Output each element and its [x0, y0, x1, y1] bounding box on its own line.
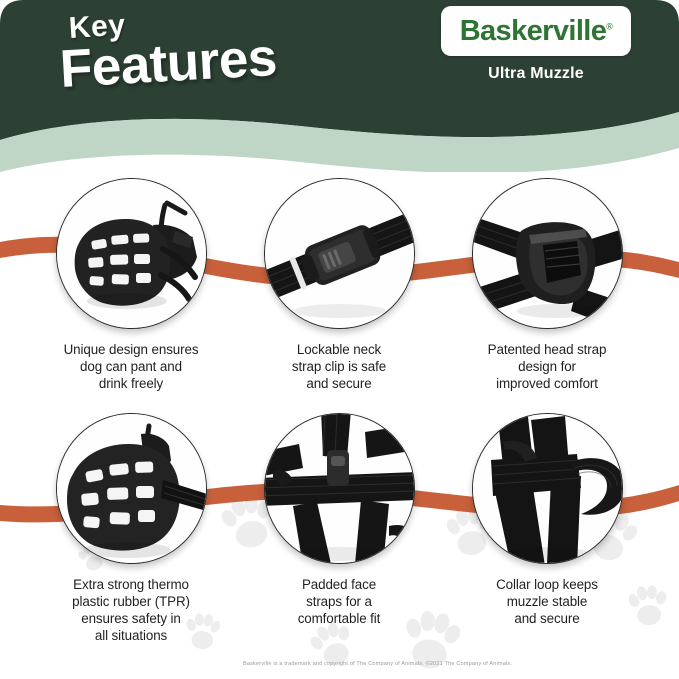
- feature-caption: Patented head strapdesign forimproved co…: [434, 341, 660, 392]
- feature-item-collar-loop[interactable]: Collar loop keepsmuzzle stableand secure: [434, 413, 660, 627]
- muzzle-tpr-photo: [56, 413, 207, 564]
- feature-caption: Padded facestraps for acomfortable fit: [226, 576, 452, 627]
- collar-loop-photo: [472, 413, 623, 564]
- page-title: Key Features: [60, 12, 360, 102]
- feature-caption: Extra strong thermoplastic rubber (TPR)e…: [18, 576, 244, 644]
- brand-name: Baskerville: [460, 15, 607, 47]
- copyright-text: Baskerville is a trademark and copyright…: [243, 661, 512, 667]
- head-strap-buckle-photo: [472, 178, 623, 329]
- feature-item-head-strap[interactable]: Patented head strapdesign forimproved co…: [434, 178, 660, 392]
- footer: Baskerville is a trademark and copyright…: [0, 652, 679, 670]
- feature-caption: Unique design ensuresdog can pant anddri…: [18, 341, 244, 392]
- feature-item-neck-clip[interactable]: Lockable neckstrap clip is safeand secur…: [226, 178, 452, 392]
- infographic-page: Key Features Baskerville® Ultra Muzzle: [0, 0, 679, 679]
- feature-grid: Unique design ensuresdog can pant anddri…: [0, 172, 679, 642]
- feature-item-padded-straps[interactable]: Padded facestraps for acomfortable fit: [226, 413, 452, 627]
- feature-caption: Lockable neckstrap clip is safeand secur…: [226, 341, 452, 392]
- registered-trademark-icon: ®: [606, 21, 612, 31]
- title-line-features: Features: [58, 27, 278, 100]
- neck-strap-clip-photo: [264, 178, 415, 329]
- padded-face-straps-photo: [264, 413, 415, 564]
- feature-item-tpr-material[interactable]: Extra strong thermoplastic rubber (TPR)e…: [18, 413, 244, 644]
- muzzle-basket-photo: [56, 178, 207, 329]
- brand-block: Baskerville® Ultra Muzzle: [441, 6, 631, 83]
- product-name: Ultra Muzzle: [441, 65, 631, 83]
- brand-logo: Baskerville®: [441, 6, 631, 56]
- feature-caption: Collar loop keepsmuzzle stableand secure: [434, 576, 660, 627]
- feature-item-vented-basket[interactable]: Unique design ensuresdog can pant anddri…: [18, 178, 244, 392]
- brand-logo-text: Baskerville®: [460, 15, 613, 48]
